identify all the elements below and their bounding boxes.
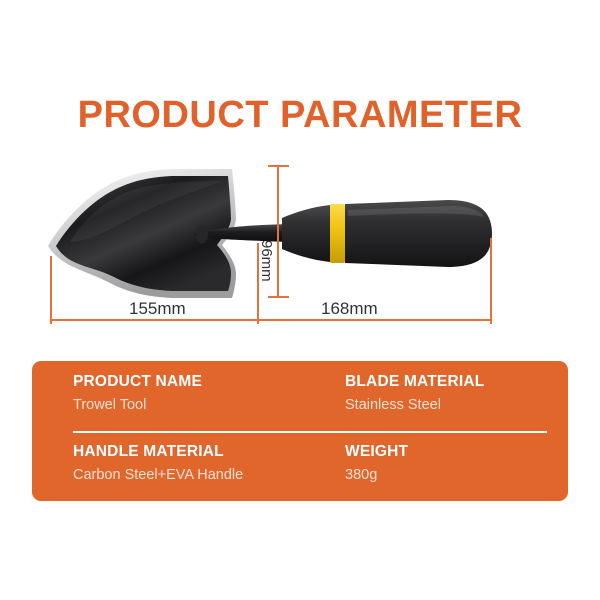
spec-label: WEIGHT [345, 431, 547, 460]
trowel-illustration [0, 150, 600, 340]
dimension-tick-right [490, 238, 492, 324]
spec-value: 380g [345, 460, 547, 484]
spec-value: Stainless Steel [345, 390, 547, 414]
spec-label: BLADE MATERIAL [345, 361, 547, 390]
handle-ferrule [282, 205, 330, 262]
dimension-label-blade-length: 155mm [129, 299, 186, 319]
dimension-tick-vertical-bottom [268, 296, 289, 298]
spec-divider-bottom [73, 501, 547, 503]
spec-row: HANDLE MATERIAL Carbon Steel+EVA Handle … [73, 431, 547, 501]
shank-collar [196, 226, 208, 244]
spec-cell-product-name: PRODUCT NAME Trowel Tool [73, 361, 345, 431]
dimension-label-handle-length: 168mm [321, 299, 378, 319]
spec-divider-middle [73, 431, 547, 433]
page-title: PRODUCT PARAMETER [0, 96, 600, 134]
spec-label: PRODUCT NAME [73, 361, 345, 390]
dimension-label-blade-width: 96mm [258, 240, 275, 282]
dimension-line-horizontal [50, 319, 492, 321]
spec-value: Carbon Steel+EVA Handle [73, 460, 345, 484]
spec-cell-blade-material: BLADE MATERIAL Stainless Steel [345, 361, 547, 431]
handle-yellow-band [330, 204, 345, 263]
dimension-tick-left [50, 256, 52, 324]
spec-cell-handle-material: HANDLE MATERIAL Carbon Steel+EVA Handle [73, 431, 345, 501]
dimension-tick-vertical-top [268, 165, 289, 167]
product-image [0, 150, 600, 340]
spec-value: Trowel Tool [73, 390, 345, 414]
spec-panel: PRODUCT NAME Trowel Tool BLADE MATERIAL … [32, 361, 568, 501]
spec-cell-weight: WEIGHT 380g [345, 431, 547, 501]
dimension-line-vertical [277, 165, 279, 298]
spec-row: PRODUCT NAME Trowel Tool BLADE MATERIAL … [73, 361, 547, 431]
spec-label: HANDLE MATERIAL [73, 431, 345, 460]
